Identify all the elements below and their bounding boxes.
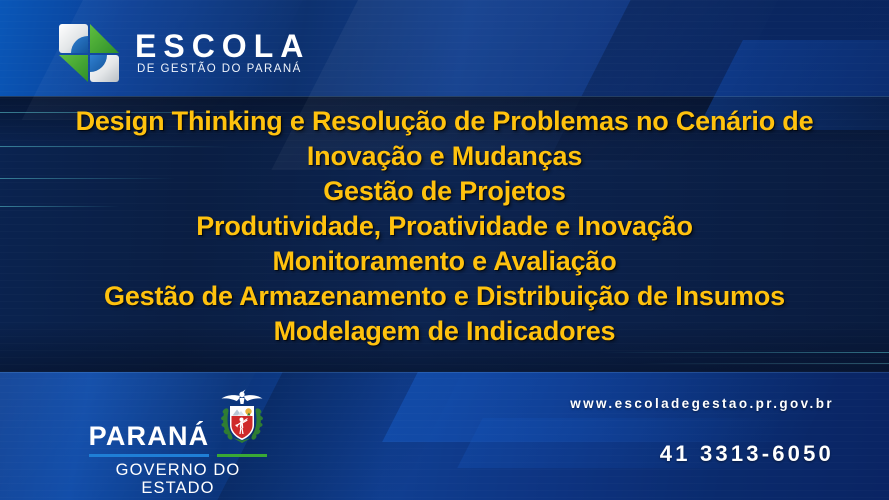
parana-state-name: PARANÁ bbox=[89, 423, 210, 450]
title-line: Gestão de Projetos bbox=[0, 174, 889, 209]
parana-logo-row: PARANÁ bbox=[78, 388, 278, 457]
title-line: Produtividade, Proatividade e Inovação bbox=[0, 209, 889, 244]
coat-of-arms-wrap bbox=[217, 388, 267, 457]
escola-tagline: DE GESTÃO DO PARANÁ bbox=[135, 64, 310, 76]
blue-bar-divider bbox=[89, 454, 210, 457]
website-url[interactable]: www.escoladegestao.pr.gov.br bbox=[570, 396, 834, 411]
escola-wordmark: ESCOLA DE GESTÃO DO PARANÁ bbox=[135, 30, 310, 76]
escola-logo: ESCOLA DE GESTÃO DO PARANÁ bbox=[57, 22, 310, 84]
title-line: Inovação e Mudanças bbox=[0, 139, 889, 174]
title-line: Monitoramento e Avaliação bbox=[0, 244, 889, 279]
presentation-slide: ESCOLA DE GESTÃO DO PARANÁ Design Thinki… bbox=[0, 0, 889, 500]
title-line: Modelagem de Indicadores bbox=[0, 314, 889, 349]
title-line: Gestão de Armazenamento e Distribuição d… bbox=[0, 279, 889, 314]
parana-government-logo: PARANÁ bbox=[78, 388, 278, 500]
escola-name: ESCOLA bbox=[135, 30, 310, 62]
parana-wordmark: PARANÁ bbox=[89, 423, 210, 457]
parana-government-level: GOVERNO DO ESTADO bbox=[78, 461, 278, 497]
parana-coat-of-arms-icon bbox=[217, 388, 267, 450]
title-line: Design Thinking e Resolução de Problemas… bbox=[0, 104, 889, 139]
green-bar-divider bbox=[217, 454, 267, 457]
slide-title-block: Design Thinking e Resolução de Problemas… bbox=[0, 104, 889, 349]
escola-diamond-logo-icon bbox=[57, 22, 121, 84]
phone-number[interactable]: 41 3313-6050 bbox=[660, 441, 834, 467]
